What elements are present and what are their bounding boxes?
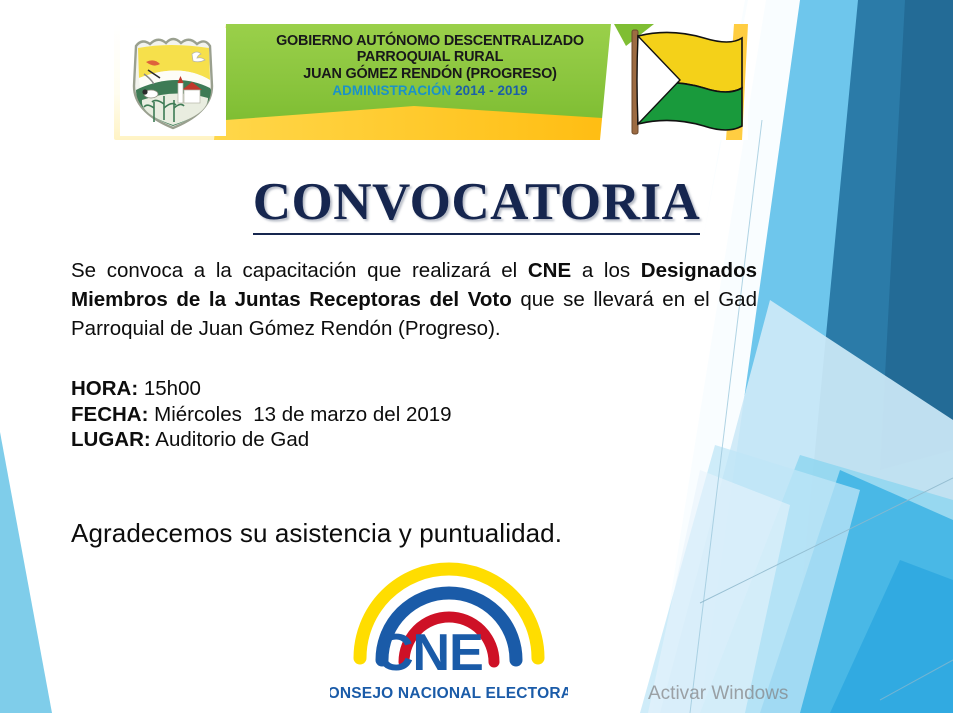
closing-line: Agradecemos su asistencia y puntualidad. <box>71 518 562 549</box>
cne-logo: CNE CONSEJO NACIONAL ELECTORAL <box>330 560 568 708</box>
detail-value-lugar: Auditorio de Gad <box>151 428 309 451</box>
page-title: CONVOCATORIA <box>0 172 953 235</box>
detail-row-fecha: FECHA: Miércoles 13 de marzo del 2019 <box>71 402 452 428</box>
paragraph-bold-cne: CNE <box>528 259 571 282</box>
detail-row-hora: HORA: 15h00 <box>71 376 452 402</box>
logo-subtitle: CONSEJO NACIONAL ELECTORAL <box>330 685 568 702</box>
detail-label-fecha: FECHA: <box>71 403 148 426</box>
slide-canvas: GOBIERNO AUTÓNOMO DESCENTRALIZADO PARROQ… <box>0 0 953 713</box>
paragraph-part-1: Se convoca a la capacitación que realiza… <box>71 259 528 282</box>
page-title-text: CONVOCATORIA <box>253 172 701 235</box>
paragraph-part-2: a los <box>571 259 641 282</box>
detail-value-hora: 15h00 <box>138 377 201 400</box>
detail-row-lugar: LUGAR: Auditorio de Gad <box>71 427 452 453</box>
detail-value-fecha: Miércoles 13 de marzo del 2019 <box>148 403 451 426</box>
event-details: HORA: 15h00 FECHA: Miércoles 13 de marzo… <box>71 376 452 453</box>
detail-label-hora: HORA: <box>71 377 138 400</box>
detail-label-lugar: LUGAR: <box>71 428 151 451</box>
logo-wordmark: CNE <box>376 624 483 682</box>
convocation-paragraph: Se convoca a la capacitación que realiza… <box>71 256 757 343</box>
